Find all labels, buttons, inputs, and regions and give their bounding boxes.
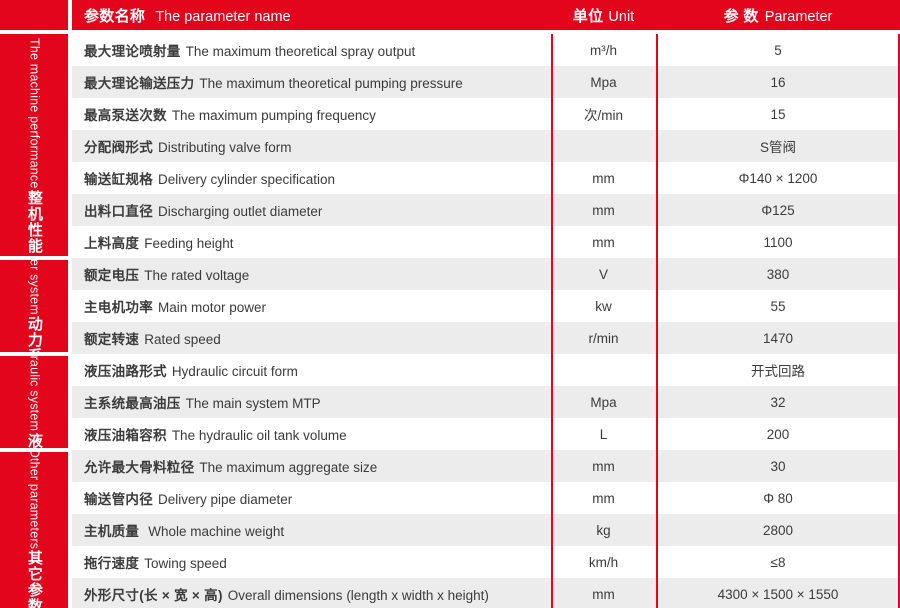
table-row: 最大理论输送压力The maximum theoretical pumping …: [72, 66, 900, 98]
cell-value: 2800: [656, 523, 900, 538]
parameter-name-zh: 输送缸规格: [84, 172, 153, 187]
cell-parameter-name: 液压油路形式Hydraulic circuit form: [72, 360, 551, 380]
cell-value: 5: [656, 43, 900, 58]
cell-parameter-name: 主电机功率Main motor power: [72, 296, 551, 316]
header-parameter-name: 参数名称The parameter name: [72, 5, 551, 26]
table-row: 分配阀形式Distributing valve formS管阀: [72, 130, 900, 162]
cell-unit: 次/min: [551, 104, 656, 124]
parameter-name-zh: 额定转速: [84, 332, 139, 347]
cell-parameter-name: 输送管内径Delivery pipe diameter: [72, 488, 551, 508]
cell-unit: V: [551, 267, 656, 282]
parameter-name-zh: 主机质量: [84, 524, 143, 539]
parameter-name-en: Delivery pipe diameter: [158, 492, 292, 507]
group-label-2: Power system动力系统: [0, 260, 68, 354]
cell-value: 开式回路: [656, 360, 900, 380]
parameter-name-en: Main motor power: [158, 300, 266, 315]
cell-parameter-name: 最大理论输送压力The maximum theoretical pumping …: [72, 72, 551, 92]
cell-parameter-name: 最大理论喷射量The maximum theoretical spray out…: [72, 40, 551, 60]
cell-unit: km/h: [551, 555, 656, 570]
parameter-name-zh: 主电机功率: [84, 300, 153, 315]
cell-unit: mm: [551, 203, 656, 218]
cell-unit: Mpa: [551, 395, 656, 410]
parameter-name-en: The rated voltage: [144, 268, 249, 283]
header-parameter-name-en: The parameter name: [155, 9, 290, 25]
cell-value: 380: [656, 267, 900, 282]
cell-unit: r/min: [551, 331, 656, 346]
parameter-name-en: The maximum theoretical spray output: [186, 44, 416, 59]
table-row: 液压油路形式Hydraulic circuit form开式回路: [72, 354, 900, 386]
parameter-name-zh: 最高泵送次数: [84, 108, 167, 123]
cell-parameter-name: 外形尺寸(长 × 宽 × 高)Overall dimensions (lengt…: [72, 584, 551, 604]
group-label-zh: 整机性能: [26, 190, 42, 254]
group-label-zh: 动力系统: [26, 316, 42, 354]
cell-parameter-name: 额定电压The rated voltage: [72, 264, 551, 284]
parameter-name-zh: 出料口直径: [84, 204, 153, 219]
table-row: 主系统最高油压The main system MTPMpa32: [72, 386, 900, 418]
parameter-name-en: The main system MTP: [186, 396, 321, 411]
cell-unit: mm: [551, 235, 656, 250]
parameter-name-en: Discharging outlet diameter: [158, 204, 322, 219]
cell-unit: mm: [551, 587, 656, 602]
column-divider-unit-left: [551, 0, 553, 608]
cell-unit: mm: [551, 459, 656, 474]
table-row: 输送缸规格Delivery cylinder specificationmmΦ1…: [72, 162, 900, 194]
table-row: 额定电压The rated voltageV380: [72, 258, 900, 290]
parameter-name-zh: 最大理论喷射量: [84, 44, 181, 59]
table-row: 允许最大骨料粒径The maximum aggregate sizemm30: [72, 450, 900, 482]
cell-unit: L: [551, 427, 656, 442]
cell-parameter-name: 最高泵送次数The maximum pumping frequency: [72, 104, 551, 124]
group-sidebar: The machine performance整机性能Power system动…: [0, 0, 68, 608]
specification-table: The machine performance整机性能Power system动…: [0, 0, 900, 608]
group-separator: [0, 448, 68, 452]
cell-parameter-name: 输送缸规格Delivery cylinder specification: [72, 168, 551, 188]
cell-parameter-name: 主机质量 Whole machine weight: [72, 520, 551, 540]
cell-value: 16: [656, 75, 900, 90]
header-parameter-en: Parameter: [765, 9, 833, 25]
cell-parameter-name: 上料高度Feeding height: [72, 232, 551, 252]
cell-unit: m³/h: [551, 43, 656, 58]
header-separator: [72, 30, 900, 34]
parameter-name-zh: 液压油路形式: [84, 364, 167, 379]
cell-value: 1100: [656, 235, 900, 250]
cell-value: 30: [656, 459, 900, 474]
header-unit-en: Unit: [608, 9, 634, 25]
cell-parameter-name: 主系统最高油压The main system MTP: [72, 392, 551, 412]
parameter-name-zh: 液压油箱容积: [84, 428, 167, 443]
parameter-name-zh: 分配阀形式: [84, 140, 153, 155]
table-row: 最大理论喷射量The maximum theoretical spray out…: [72, 34, 900, 66]
parameter-name-en: Towing speed: [144, 556, 227, 571]
cell-value: ≤8: [656, 555, 900, 570]
table-row: 拖行速度Towing speedkm/h≤8: [72, 546, 900, 578]
group-separator: [0, 256, 68, 260]
cell-value: Φ125: [656, 203, 900, 218]
cell-parameter-name: 拖行速度Towing speed: [72, 552, 551, 572]
sidebar-corner-block: [0, 0, 68, 30]
cell-value: Φ140 × 1200: [656, 171, 900, 186]
cell-parameter-name: 液压油箱容积The hydraulic oil tank volume: [72, 424, 551, 444]
table-row: 主机质量 Whole machine weightkg2800: [72, 514, 900, 546]
table-row: 出料口直径Discharging outlet diametermmΦ125: [72, 194, 900, 226]
cell-unit: kg: [551, 523, 656, 538]
header-parameter-name-zh: 参数名称: [84, 8, 145, 25]
cell-unit: kw: [551, 299, 656, 314]
group-label-en: The machine performance: [27, 38, 40, 189]
group-label-en: Other parameters: [27, 452, 40, 549]
cell-parameter-name: 允许最大骨料粒径The maximum aggregate size: [72, 456, 551, 476]
parameter-name-en: Whole machine weight: [148, 524, 284, 539]
parameter-name-en: Distributing valve form: [158, 140, 292, 155]
parameter-name-en: Overall dimensions (length x width x hei…: [228, 588, 489, 603]
group-label-en: The hydraulic system: [27, 356, 40, 432]
cell-parameter-name: 额定转速Rated speed: [72, 328, 551, 348]
parameter-name-en: Feeding height: [144, 236, 233, 251]
cell-value: 4300 × 1500 × 1550: [656, 587, 900, 602]
parameter-name-zh: 主系统最高油压: [84, 396, 181, 411]
cell-value: 1470: [656, 331, 900, 346]
group-separator: [0, 352, 68, 356]
cell-unit: mm: [551, 171, 656, 186]
parameter-name-en: The maximum pumping frequency: [172, 108, 376, 123]
cell-value: 200: [656, 427, 900, 442]
parameter-name-zh: 拖行速度: [84, 556, 139, 571]
table-grid: 参数名称The parameter name单位Unit参 数Parameter…: [72, 0, 900, 608]
parameter-name-en: Hydraulic circuit form: [172, 364, 298, 379]
cell-unit: mm: [551, 491, 656, 506]
header-unit: 单位Unit: [551, 5, 656, 26]
cell-parameter-name: 出料口直径Discharging outlet diameter: [72, 200, 551, 220]
group-label-en: Power system: [27, 260, 40, 315]
group-label-4: Other parameters其它参数: [0, 452, 68, 608]
column-divider-unit-right: [656, 0, 658, 608]
cell-value: 32: [656, 395, 900, 410]
header-parameter: 参 数Parameter: [656, 5, 900, 26]
group-label-zh: 其它参数: [26, 550, 42, 608]
parameter-name-en: The maximum theoretical pumping pressure: [199, 76, 462, 91]
cell-parameter-name: 分配阀形式Distributing valve form: [72, 136, 551, 156]
table-row: 输送管内径Delivery pipe diametermmΦ 80: [72, 482, 900, 514]
table-row: 液压油箱容积The hydraulic oil tank volumeL200: [72, 418, 900, 450]
parameter-name-en: Rated speed: [144, 332, 221, 347]
cell-value: 15: [656, 107, 900, 122]
parameter-name-zh: 最大理论输送压力: [84, 76, 194, 91]
parameter-name-zh: 允许最大骨料粒径: [84, 460, 194, 475]
cell-unit: Mpa: [551, 75, 656, 90]
group-label-3: The hydraulic system液压系统: [0, 356, 68, 450]
parameter-name-zh: 外形尺寸(长 × 宽 × 高): [84, 588, 223, 603]
table-row: 主电机功率Main motor powerkw55: [72, 290, 900, 322]
table-row: 额定转速Rated speedr/min1470: [72, 322, 900, 354]
cell-value: Φ 80: [656, 491, 900, 506]
header-parameter-zh: 参 数: [724, 8, 759, 25]
table-header-row: 参数名称The parameter name单位Unit参 数Parameter: [72, 0, 900, 30]
group-label-1: The machine performance整机性能: [0, 34, 68, 258]
table-row: 上料高度Feeding heightmm1100: [72, 226, 900, 258]
table-row: 最高泵送次数The maximum pumping frequency次/min…: [72, 98, 900, 130]
parameter-name-en: The maximum aggregate size: [199, 460, 377, 475]
parameter-name-zh: 输送管内径: [84, 492, 153, 507]
header-unit-zh: 单位: [573, 8, 604, 25]
table-row: 外形尺寸(长 × 宽 × 高)Overall dimensions (lengt…: [72, 578, 900, 608]
cell-value: S管阀: [656, 136, 900, 156]
parameter-name-zh: 额定电压: [84, 268, 139, 283]
parameter-name-en: The hydraulic oil tank volume: [172, 428, 347, 443]
parameter-name-zh: 上料高度: [84, 236, 139, 251]
cell-value: 55: [656, 299, 900, 314]
parameter-name-en: Delivery cylinder specification: [158, 172, 335, 187]
